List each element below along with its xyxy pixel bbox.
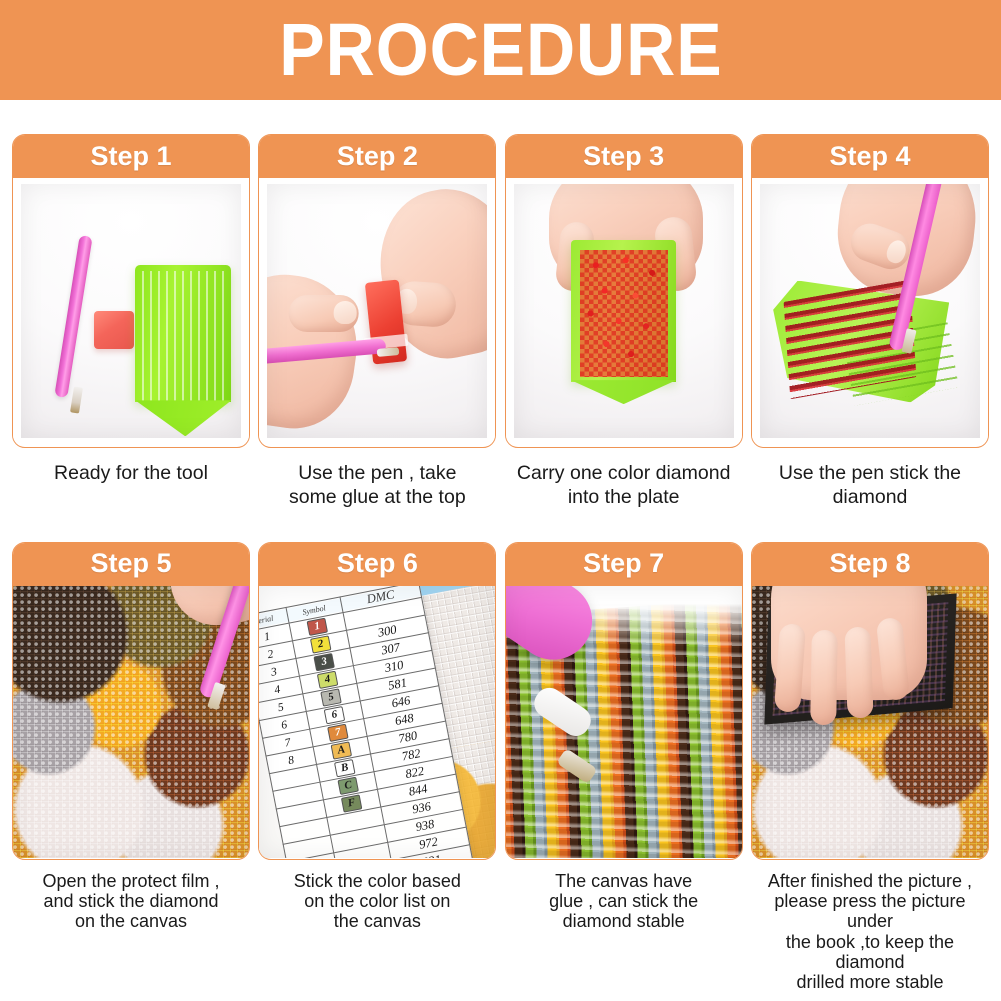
step-badge-label-1: Step 1 bbox=[90, 143, 171, 170]
steps-row-bottom: Step 5 bbox=[0, 542, 1001, 993]
step-badge-2: Step 2 bbox=[258, 134, 496, 178]
photo-sunflower-canvas-with-pen bbox=[13, 586, 249, 858]
step-cell-1: Step 1 bbox=[12, 134, 250, 510]
step-card-2: Step 2 bbox=[258, 134, 496, 448]
step-badge-4: Step 4 bbox=[751, 134, 989, 178]
steps-grid: Step 1 bbox=[0, 134, 1001, 993]
step-photo-6: SerialSymbolDMC1122300333074431055581666… bbox=[259, 586, 495, 858]
step-photo-2 bbox=[259, 178, 495, 446]
photo-bead-closeup bbox=[506, 586, 742, 858]
step-cell-3: Step 3 bbox=[505, 134, 743, 510]
fingernail-icon bbox=[884, 239, 909, 267]
step-caption-5: Open the protect film , and stick the di… bbox=[12, 871, 250, 932]
step-photo-8 bbox=[752, 586, 988, 858]
glue-square-icon bbox=[94, 311, 134, 349]
step-cell-5: Step 5 bbox=[12, 542, 250, 993]
photo-color-code-chart: SerialSymbolDMC1122300333074431055581666… bbox=[259, 586, 495, 858]
step-caption-6: Stick the color based on the color list … bbox=[258, 871, 496, 932]
step-card-8: Step 8 bbox=[751, 542, 989, 860]
step-photo-3 bbox=[506, 178, 742, 446]
step-badge-label-4: Step 4 bbox=[829, 143, 910, 170]
photo-dip-pen-in-glue bbox=[267, 184, 487, 438]
pink-pen-icon bbox=[55, 235, 93, 398]
step-cell-8: Step 8 bbox=[751, 542, 989, 993]
step-card-3: Step 3 bbox=[505, 134, 743, 448]
step-caption-4: Use the pen stick the diamond bbox=[751, 462, 989, 510]
pen-tip-icon bbox=[70, 387, 83, 414]
step-caption-8: After finished the picture , please pres… bbox=[751, 871, 989, 993]
page-header-banner: PROCEDURE bbox=[0, 0, 1001, 100]
step-cell-6: Step 6 SerialSymbolDMC112230033307443105 bbox=[258, 542, 496, 993]
step-card-4: Step 4 bbox=[751, 134, 989, 448]
step-card-5: Step 5 bbox=[12, 542, 250, 860]
step-badge-label-6: Step 6 bbox=[337, 550, 418, 577]
step-caption-3: Carry one color diamond into the plate bbox=[505, 462, 743, 510]
step-cell-2: Step 2 bbox=[258, 134, 496, 510]
step-badge-8: Step 8 bbox=[751, 542, 989, 586]
finger-icon bbox=[811, 630, 839, 725]
step-caption-2: Use the pen , take some glue at the top bbox=[258, 462, 496, 510]
pen-tip-icon bbox=[377, 347, 400, 357]
step-card-6: Step 6 SerialSymbolDMC112230033307443105 bbox=[258, 542, 496, 860]
photo-press-with-board bbox=[752, 586, 988, 858]
step-caption-7: The canvas have glue , can stick the dia… bbox=[505, 871, 743, 932]
finger-icon bbox=[844, 627, 874, 719]
step-photo-4 bbox=[752, 178, 988, 446]
step-badge-label-8: Step 8 bbox=[829, 550, 910, 577]
step-badge-label-5: Step 5 bbox=[90, 550, 171, 577]
step-badge-label-3: Step 3 bbox=[583, 143, 664, 170]
finger-icon bbox=[876, 617, 911, 701]
photo-tray-with-diamonds bbox=[514, 184, 734, 438]
step-badge-5: Step 5 bbox=[12, 542, 250, 586]
step-badge-7: Step 7 bbox=[505, 542, 743, 586]
page-title: PROCEDURE bbox=[279, 13, 722, 87]
step-photo-7 bbox=[506, 586, 742, 858]
finger-icon bbox=[288, 296, 358, 333]
step-card-1: Step 1 bbox=[12, 134, 250, 448]
step-badge-1: Step 1 bbox=[12, 134, 250, 178]
hand-icon bbox=[771, 586, 927, 700]
photo-pick-diamond-with-pen bbox=[760, 184, 980, 438]
step-badge-3: Step 3 bbox=[505, 134, 743, 178]
photo-pen-glue-tray bbox=[21, 184, 241, 438]
step-cell-4: Step 4 bbox=[751, 134, 989, 510]
step-caption-1: Ready for the tool bbox=[12, 462, 250, 486]
green-tray-icon bbox=[135, 265, 231, 402]
step-badge-label-2: Step 2 bbox=[337, 143, 418, 170]
step-badge-6: Step 6 bbox=[258, 542, 496, 586]
mosaic-bead-highlight-icon bbox=[13, 586, 249, 858]
step-card-7: Step 7 bbox=[505, 542, 743, 860]
finger-icon bbox=[845, 219, 914, 276]
step-photo-1 bbox=[13, 178, 249, 446]
step-badge-label-7: Step 7 bbox=[583, 550, 664, 577]
fingernail-icon bbox=[333, 301, 356, 324]
step-photo-5 bbox=[13, 586, 249, 858]
steps-row-top: Step 1 bbox=[0, 134, 1001, 510]
red-diamonds-icon bbox=[580, 250, 668, 377]
step-cell-7: Step 7 bbox=[505, 542, 743, 993]
tray-ribs-icon bbox=[142, 271, 224, 402]
